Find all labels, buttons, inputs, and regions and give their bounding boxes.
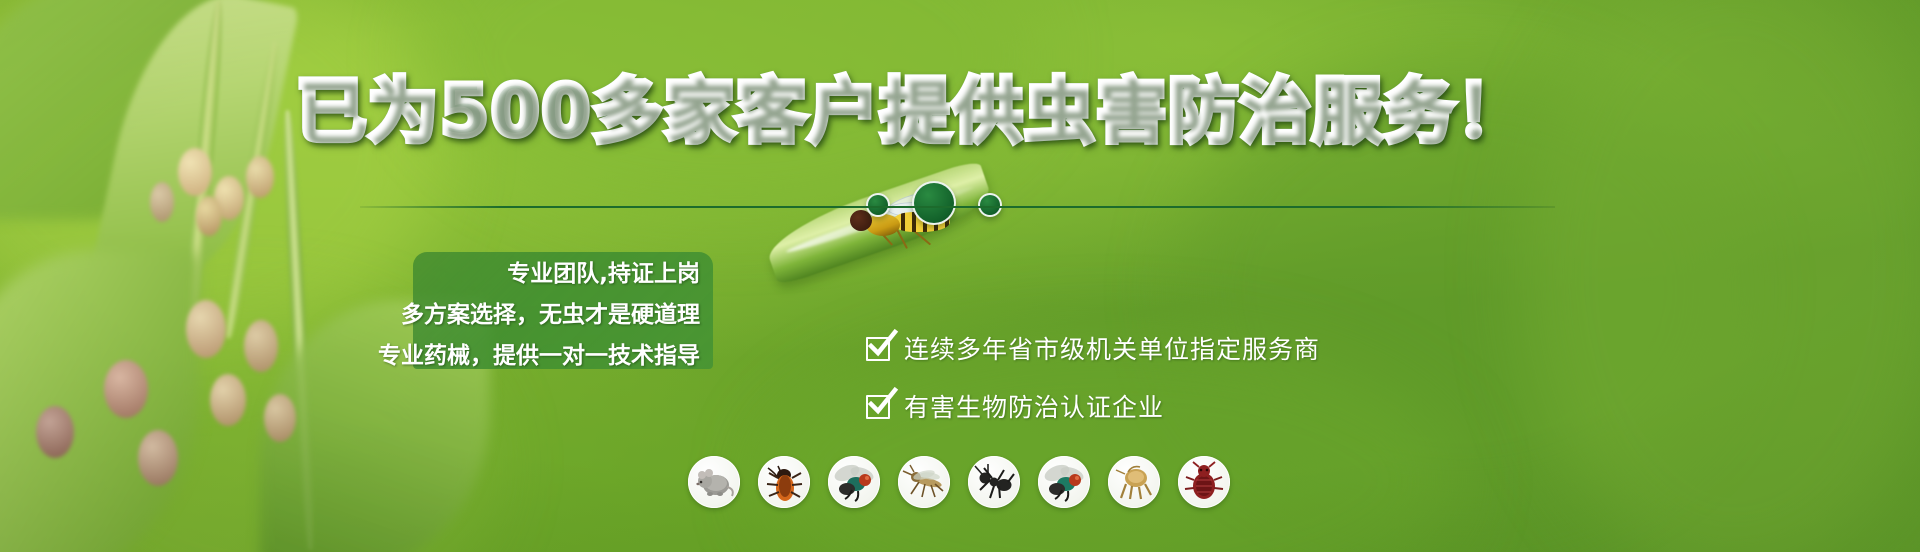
promo-line-2: 多方案选择，无虫才是硬道理 — [401, 295, 700, 329]
ant-icon — [968, 456, 1020, 508]
decorative-dot-small-right — [978, 193, 1002, 217]
list-item: 有害生物防治认证企业 — [866, 388, 1486, 424]
mosquito-icon — [898, 456, 950, 508]
mouse-icon — [688, 456, 740, 508]
promo-line-1: 专业团队,持证上岗 — [507, 254, 700, 288]
pest-type-icon-row — [688, 456, 1230, 508]
flea-icon — [1108, 456, 1160, 508]
decorative-dot-small-left — [866, 193, 890, 217]
fly-icon — [828, 456, 880, 508]
credential-label: 连续多年省市级机关单位指定服务商 — [904, 330, 1320, 366]
promo-line-3: 专业药械，提供一对一技术指导 — [378, 336, 700, 370]
credential-label: 有害生物防治认证企业 — [904, 388, 1164, 424]
checkbox-checked-icon — [866, 335, 892, 361]
bedbug-icon — [1178, 456, 1230, 508]
divider-line — [360, 206, 1555, 208]
decorative-dot-large-center — [912, 181, 956, 225]
cockroach-icon — [758, 456, 810, 508]
pest-control-banner: 已为500多家客户提供虫害防治服务！ 专业团队,持证上岗 多方案选择，无虫才是硬… — [0, 0, 1920, 552]
blowfly-icon — [1038, 456, 1090, 508]
checkbox-checked-icon — [866, 393, 892, 419]
credentials-list: 连续多年省市级机关单位指定服务商 有害生物防治认证企业 — [866, 330, 1486, 424]
promo-text-group: 专业团队,持证上岗 多方案选择，无虫才是硬道理 专业药械，提供一对一技术指导 — [340, 252, 730, 372]
list-item: 连续多年省市级机关单位指定服务商 — [866, 330, 1486, 366]
page-title: 已为500多家客户提供虫害防治服务！ — [296, 72, 1586, 150]
